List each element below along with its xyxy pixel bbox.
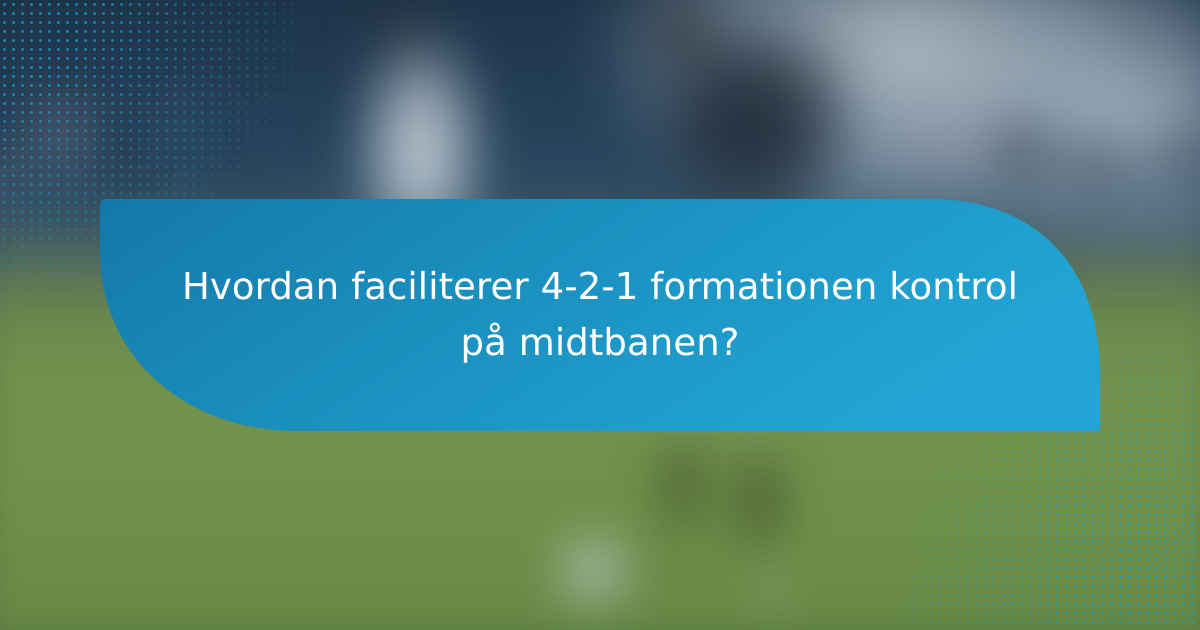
share-card: Hvordan faciliterer 4-2-1 formationen ko…	[0, 0, 1200, 630]
question-text: Hvordan faciliterer 4-2-1 formationen ko…	[160, 259, 1040, 371]
question-banner: Hvordan faciliterer 4-2-1 formationen ko…	[100, 199, 1100, 431]
